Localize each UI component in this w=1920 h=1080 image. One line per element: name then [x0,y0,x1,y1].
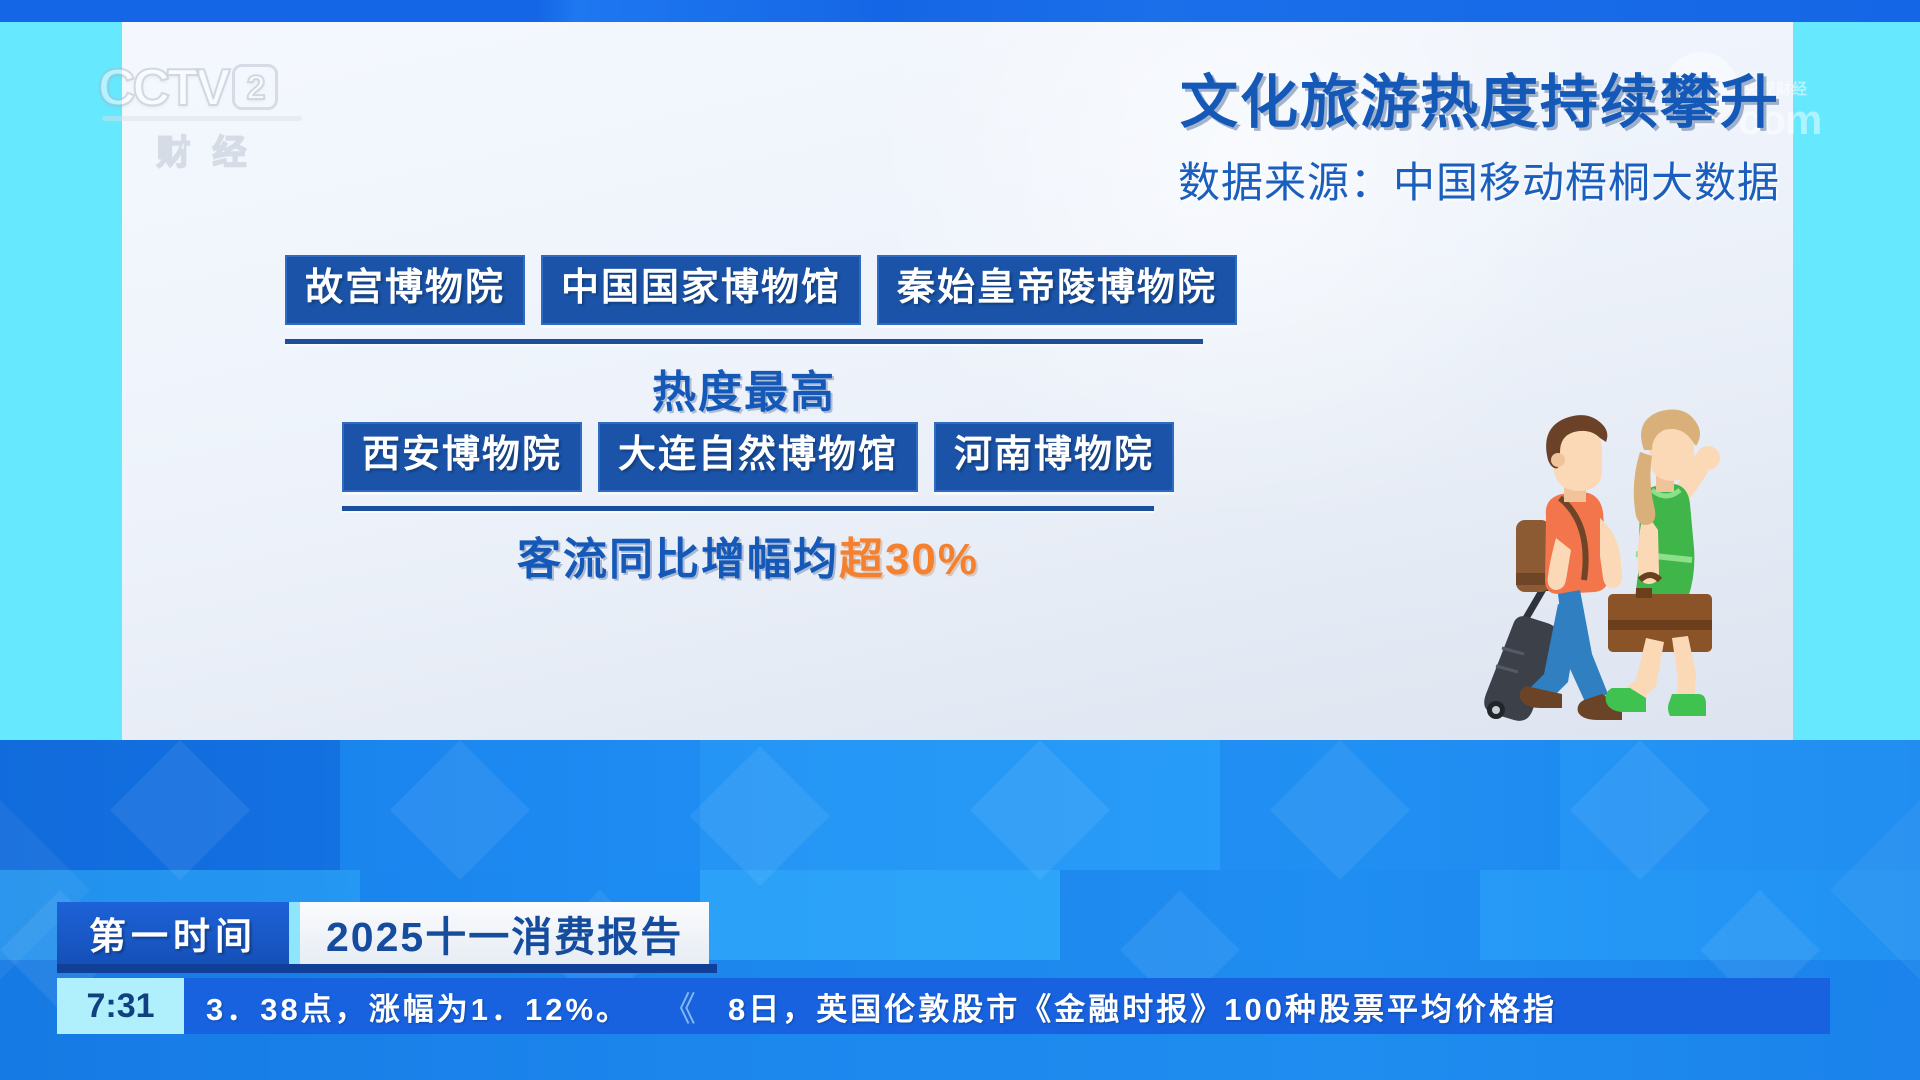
travelers-svg [1440,398,1750,728]
tag-row: 故宫博物院 中国国家博物馆 秦始皇帝陵博物院 [285,255,1237,325]
caption-plain-text: 客流同比增幅均 [517,535,839,584]
top-museums-group: 故宫博物院 中国国家博物馆 秦始皇帝陵博物院 热度最高 [285,255,1237,420]
data-source-subtitle: 数据来源：中国移动梧桐大数据 [1178,149,1780,210]
ticker-text-right: 8日，英国伦敦股市《金融时报》100种股票平均价格指 [728,984,1557,1029]
museum-tag[interactable]: 河南博物院 [934,422,1174,492]
top-blue-band [0,0,1920,22]
lower-third-separator [289,902,300,964]
growth-museums-group: 西安博物院 大连自然博物馆 河南博物院 客流同比增幅均超30% [342,422,1174,587]
caption-accent-text: 超30% [839,535,979,584]
ticker-body[interactable]: 3．38点，涨幅为1．12%。 《 8日，英国伦敦股市《金融时报》100种股票平… [184,978,1830,1034]
page-title: 文化旅游热度持续攀升 [1178,72,1780,135]
two-travelers-illustration [1440,398,1750,728]
group-underline [342,506,1154,511]
group-caption: 客流同比增幅均超30% [342,523,1154,587]
group-caption: 热度最高 [285,356,1203,420]
news-ticker: 7:31 3．38点，涨幅为1．12%。 《 8日，英国伦敦股市《金融时报》10… [57,978,1830,1034]
caption-plain-text: 热度最高 [652,368,836,417]
clock-display: 7:31 [57,978,184,1034]
right-cyan-rail [1793,22,1920,740]
lower-third-banner: 第一时间 2025十一消费报告 [57,902,709,964]
topic-title-label: 2025十一消费报告 [300,902,709,964]
museum-tag[interactable]: 秦始皇帝陵博物院 [877,255,1237,325]
ticker-text-left: 3．38点，涨幅为1．12%。 [206,984,630,1029]
museum-tag[interactable]: 西安博物院 [342,422,582,492]
program-name-label: 第一时间 [57,902,289,964]
museum-tag[interactable]: 故宫博物院 [285,255,525,325]
group-underline [285,339,1203,344]
museum-tag[interactable]: 中国国家博物馆 [541,255,861,325]
museum-tag[interactable]: 大连自然博物馆 [598,422,918,492]
double-chevron-icon: 《 [656,982,702,1031]
headline-block: 文化旅游热度持续攀升 数据来源：中国移动梧桐大数据 [1178,72,1780,210]
left-cyan-rail [0,22,122,740]
tag-row: 西安博物院 大连自然博物馆 河南博物院 [342,422,1174,492]
broadcast-screen: CCTV2 财经 央视财经 com 文化旅游热度持续攀升 数据来源：中国移动梧桐… [0,0,1920,1080]
lower-third-shadow [57,964,717,973]
